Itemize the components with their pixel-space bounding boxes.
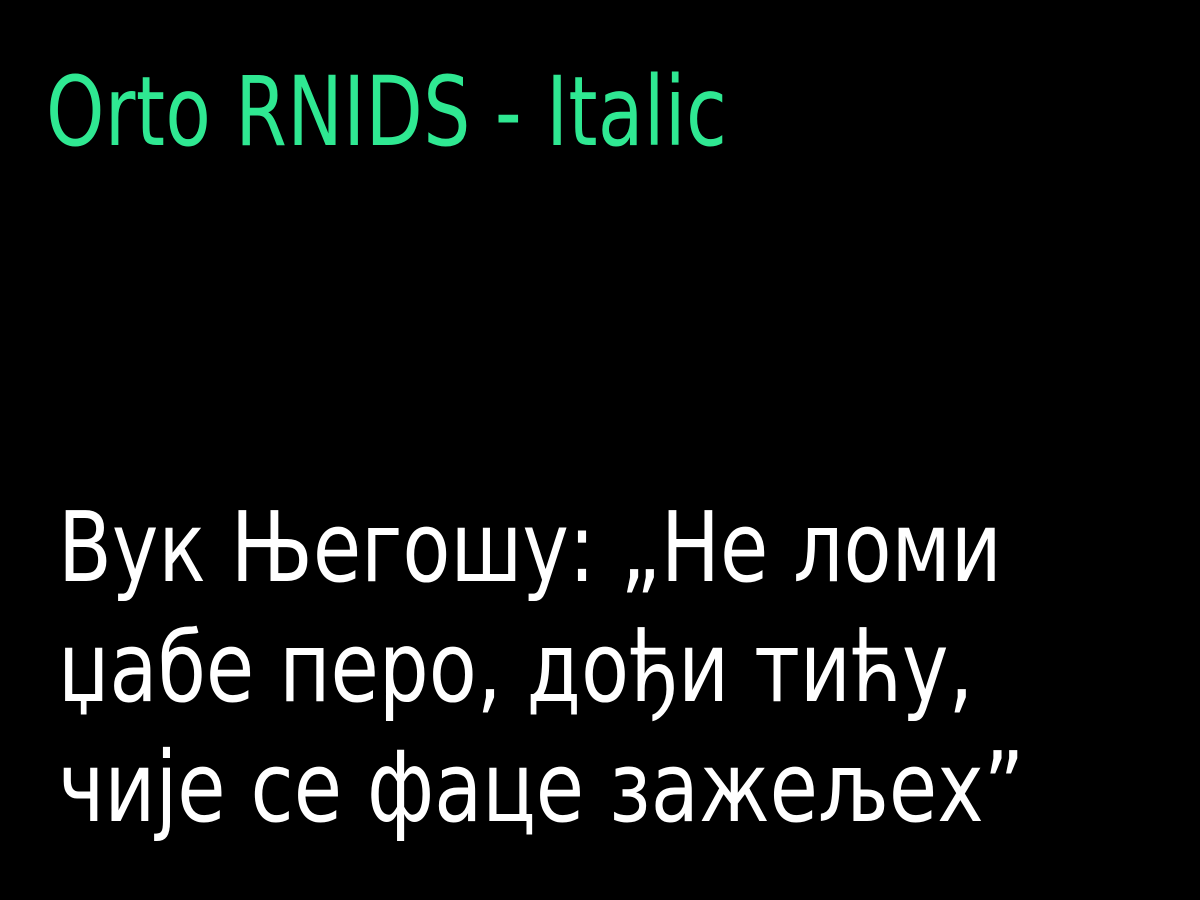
font-title: Orto RNIDS - Italic: [46, 62, 992, 163]
sample-line-1: Вук Његошу: „Не ломи: [58, 488, 1057, 608]
sample-line-2: џабе перо, дођи тићу,: [58, 608, 1057, 728]
font-specimen-slide: Orto RNIDS - Italic Вук Његошу: „Не ломи…: [0, 0, 1200, 900]
sample-text-block: Вук Његошу: „Не ломи џабе перо, дођи тић…: [58, 488, 1057, 848]
sample-line-3: чије се фаце зажељех”: [58, 728, 1057, 848]
